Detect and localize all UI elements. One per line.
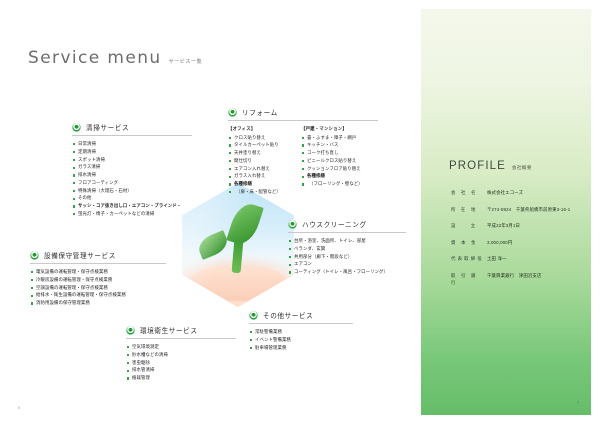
list-item: イベント警備業務 bbox=[249, 337, 353, 344]
block-heading: 設備保守管理サービス bbox=[30, 250, 166, 260]
profile-row: 資 本 金 3,000,000円 bbox=[451, 239, 591, 246]
reform-office-column: 【オフィス】 クロス貼り替え タイルカーペット貼り 天井塗り替え 間仕切り エア… bbox=[228, 126, 290, 197]
block-title: その他サービス bbox=[263, 310, 313, 320]
profile-subtitle: 会社概要 bbox=[512, 165, 532, 173]
block-heading: その他サービス bbox=[249, 310, 353, 320]
list-item: 冷暖房設備の運転管理・保守点検業務 bbox=[30, 277, 166, 284]
reform-columns: 【オフィス】 クロス貼り替え タイルカーペット貼り 天井塗り替え 間仕切り エア… bbox=[228, 126, 378, 197]
profile-heading: PROFILE 会社概要 bbox=[449, 160, 532, 172]
list-item-continuation: （フローリング・壁など） bbox=[301, 181, 363, 188]
block-facility: 設備保守管理サービス 電気設備の運転管理・保守点検業務 冷暖房設備の運転管理・保… bbox=[30, 250, 166, 308]
list-item: 常駐警備業務 bbox=[249, 329, 353, 336]
page-number-left: 6 bbox=[18, 406, 20, 410]
profile-label: 取 引 銀 行 bbox=[451, 272, 487, 286]
divider bbox=[72, 135, 192, 136]
list-item: ガラス入れ替え bbox=[228, 173, 290, 180]
profile-row: 取 引 銀 行 千葉興業銀行 津田沼支店 bbox=[451, 272, 591, 286]
service-list: 日常清掃 定期清掃 スポット清掃 ガラス清掃 排水清掃 フロアコーティング 特殊… bbox=[72, 141, 192, 218]
list-item: 害虫駆除 bbox=[126, 360, 236, 367]
page-title-sub: サービス一覧 bbox=[169, 58, 203, 68]
target-circle-icon bbox=[126, 326, 135, 335]
service-list: 電気設備の運転管理・保守点検業務 冷暖房設備の運転管理・保守点検業務 空調設備の… bbox=[30, 269, 166, 307]
list-item: その他 bbox=[72, 195, 192, 202]
block-title: 清掃サービス bbox=[86, 122, 129, 132]
list-item: ビニールクロス貼り替え bbox=[301, 158, 363, 165]
list-item: 各種修繕 bbox=[301, 173, 363, 180]
list-item: キッチン・バス bbox=[301, 142, 363, 149]
list-item: 日常清掃 bbox=[72, 141, 192, 148]
page-number-right: 7 bbox=[577, 401, 579, 405]
service-list: 畳・ふすま・障子・網戸 キッチン・バス コーク打ち直し ビニールクロス貼り替え … bbox=[301, 135, 363, 188]
profile-label: 代表取締役 bbox=[451, 255, 487, 262]
service-list: 常駐警備業務 イベント警備業務 駐車場管理業務 bbox=[249, 329, 353, 351]
block-heading: ハウスクリーニング bbox=[288, 219, 406, 229]
block-reform: リフォーム 【オフィス】 クロス貼り替え タイルカーペット貼り 天井塗り替え 間… bbox=[228, 107, 378, 197]
brochure-page: PROFILE 会社概要 会 社 名 株式会社エコーズ 所 在 地 〒274-0… bbox=[0, 0, 600, 424]
profile-row: 設 立 平成22年3月1日 bbox=[451, 222, 591, 229]
divider bbox=[288, 232, 406, 233]
list-item: 消防用設備の保守管理業務 bbox=[30, 300, 166, 307]
profile-row: 所 在 地 〒274-0824 千葉県船橋市前原東3-16-1 bbox=[451, 206, 591, 213]
list-item: コーク打ち直し bbox=[301, 150, 363, 157]
list-item: ベランダ、玄関 bbox=[288, 246, 406, 253]
list-item: クロス貼り替え bbox=[228, 135, 290, 142]
list-item: クッションフロア貼り替え bbox=[301, 166, 363, 173]
list-item: 電気設備の運転管理・保守点検業務 bbox=[30, 269, 166, 276]
profile-row: 代表取締役 土田 洋一 bbox=[451, 255, 591, 262]
service-list: 空気環境測定 貯水槽などの清掃 害虫駆除 排水管清掃 植栽管理 bbox=[126, 344, 236, 382]
list-item: 台所・浴室、洗面所、トイレ、部屋 bbox=[288, 238, 406, 245]
list-item: 貯水槽などの清掃 bbox=[126, 352, 236, 359]
service-list: 台所・浴室、洗面所、トイレ、部屋 ベランダ、玄関 共用部分（廊下・階段など） エ… bbox=[288, 238, 406, 276]
divider bbox=[30, 263, 166, 264]
list-item: エアコン入れ替え bbox=[228, 166, 290, 173]
list-item: 天井塗り替え bbox=[228, 150, 290, 157]
profile-row: 会 社 名 株式会社エコーズ bbox=[451, 189, 591, 196]
block-title: ハウスクリーニング bbox=[302, 219, 367, 229]
profile-value: 〒274-0824 千葉県船橋市前原東3-16-1 bbox=[487, 206, 570, 213]
list-item: 共用部分（廊下・階段など） bbox=[288, 254, 406, 261]
page-title-main: Service menu bbox=[28, 48, 162, 68]
target-circle-icon bbox=[228, 108, 237, 117]
list-item: 空調設備の運転管理・保守点検業務 bbox=[30, 285, 166, 292]
service-list: クロス貼り替え タイルカーペット貼り 天井塗り替え 間仕切り エアコン入れ替え … bbox=[228, 135, 290, 196]
photo-sheen bbox=[176, 183, 300, 307]
list-item: 排水管清掃 bbox=[126, 367, 236, 374]
profile-panel: PROFILE 会社概要 会 社 名 株式会社エコーズ 所 在 地 〒274-0… bbox=[421, 9, 591, 415]
target-circle-icon bbox=[288, 220, 297, 229]
block-environment: 環境衛生サービス 空気環境測定 貯水槽などの清掃 害虫駆除 排水管清掃 植栽管理 bbox=[126, 325, 236, 383]
column-heading: 【戸建・マンション】 bbox=[301, 126, 363, 132]
list-item: フロアコーティング bbox=[72, 180, 192, 187]
reform-home-column: 【戸建・マンション】 畳・ふすま・障子・網戸 キッチン・バス コーク打ち直し ビ… bbox=[301, 126, 363, 197]
target-circle-icon bbox=[72, 123, 81, 132]
list-item: 特殊清掃（大理石・石材） bbox=[72, 188, 192, 195]
list-item: 植栽管理 bbox=[126, 375, 236, 382]
target-circle-icon bbox=[30, 251, 39, 260]
profile-value: 土田 洋一 bbox=[487, 255, 507, 262]
divider bbox=[228, 120, 378, 121]
list-item-continuation: 蛍光灯・椅子・カーペットなどの清掃 bbox=[72, 211, 192, 218]
list-item-continuation: （扉・床・配管など） bbox=[228, 189, 290, 196]
list-item: タイルカーペット貼り bbox=[228, 142, 290, 149]
block-title: リフォーム bbox=[242, 107, 278, 117]
profile-value: 株式会社エコーズ bbox=[487, 189, 523, 196]
target-circle-icon bbox=[249, 311, 258, 320]
list-item: 各種修繕 bbox=[228, 181, 290, 188]
profile-value: 千葉興業銀行 津田沼支店 bbox=[487, 272, 542, 279]
block-heading: 環境衛生サービス bbox=[126, 325, 236, 335]
list-item: サッシ・コア抜き出し口・エアコン・ブラインド・ bbox=[72, 203, 192, 210]
list-item: 定期清掃 bbox=[72, 149, 192, 156]
list-item: スポット清掃 bbox=[72, 157, 192, 164]
list-item: 排水清掃 bbox=[72, 172, 192, 179]
profile-label: 会 社 名 bbox=[451, 189, 487, 196]
list-item: 畳・ふすま・障子・網戸 bbox=[301, 135, 363, 142]
page-title: Service menu サービス一覧 bbox=[28, 48, 202, 68]
block-heading: リフォーム bbox=[228, 107, 378, 117]
sprout-photo bbox=[176, 183, 300, 307]
divider bbox=[126, 338, 236, 339]
profile-title: PROFILE bbox=[449, 160, 506, 172]
column-heading: 【オフィス】 bbox=[228, 126, 290, 132]
divider bbox=[249, 323, 353, 324]
profile-value: 3,000,000円 bbox=[487, 239, 512, 246]
list-item: 給排水・衛生設備の運転管理・保守点検業務 bbox=[30, 292, 166, 299]
block-other: その他サービス 常駐警備業務 イベント警備業務 駐車場管理業務 bbox=[249, 310, 353, 352]
list-item: 空気環境測定 bbox=[126, 344, 236, 351]
list-item: 間仕切り bbox=[228, 158, 290, 165]
profile-label: 設 立 bbox=[451, 222, 487, 229]
block-title: 設備保守管理サービス bbox=[44, 250, 116, 260]
profile-value: 平成22年3月1日 bbox=[487, 222, 520, 229]
profile-table: 会 社 名 株式会社エコーズ 所 在 地 〒274-0824 千葉県船橋市前原東… bbox=[451, 189, 591, 295]
profile-label: 資 本 金 bbox=[451, 239, 487, 246]
profile-label: 所 在 地 bbox=[451, 206, 487, 213]
block-title: 環境衛生サービス bbox=[140, 325, 198, 335]
block-cleaning: 清掃サービス 日常清掃 定期清掃 スポット清掃 ガラス清掃 排水清掃 フロアコー… bbox=[72, 122, 192, 219]
block-housecleaning: ハウスクリーニング 台所・浴室、洗面所、トイレ、部屋 ベランダ、玄関 共用部分（… bbox=[288, 219, 406, 277]
list-item: ガラス清掃 bbox=[72, 164, 192, 171]
block-heading: 清掃サービス bbox=[72, 122, 192, 132]
list-item: エアコン bbox=[288, 261, 406, 268]
list-item: 駐車場管理業務 bbox=[249, 345, 353, 352]
list-item: コーティング（トイレ・風呂・フローリング） bbox=[288, 269, 406, 276]
